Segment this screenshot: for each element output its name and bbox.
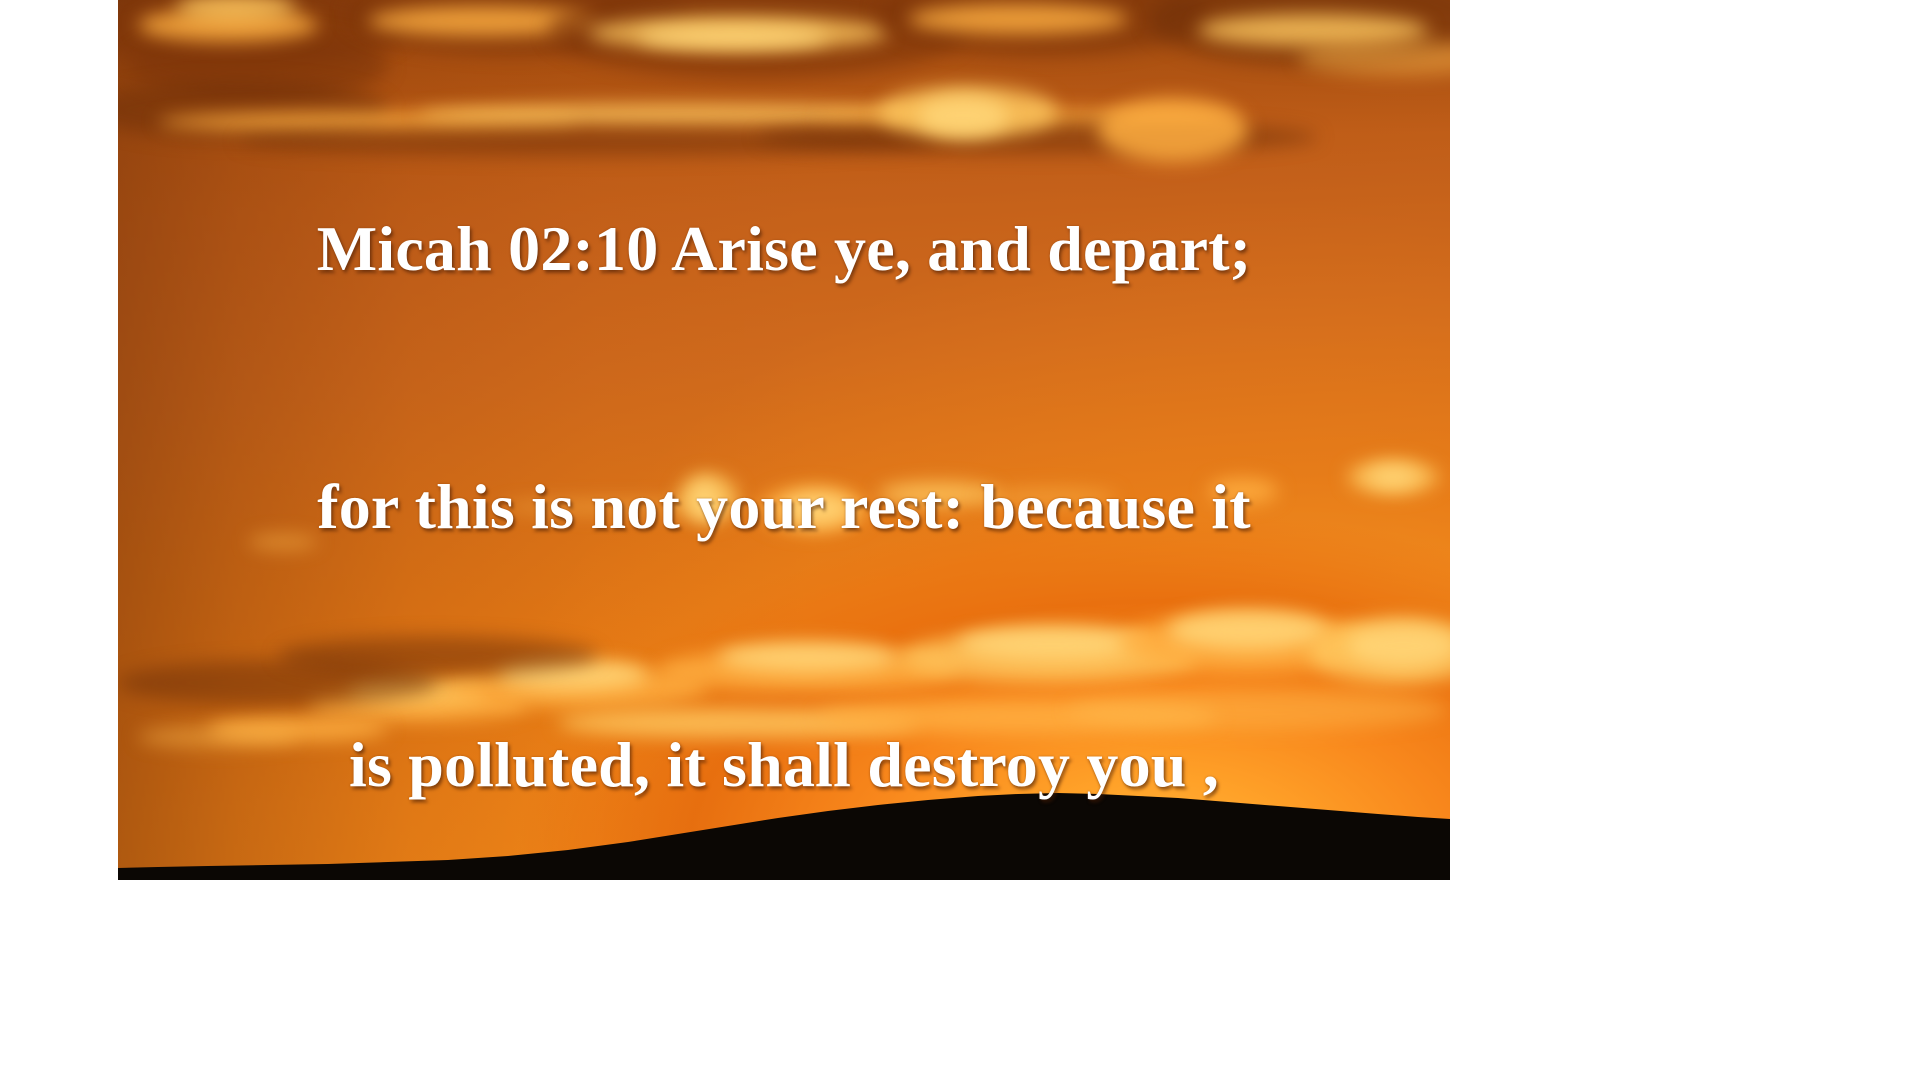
sunset-photo: Micah 02:10 Arise ye, and depart; for th… [118, 0, 1450, 880]
scripture-verse-text: Micah 02:10 Arise ye, and depart; for th… [178, 34, 1390, 880]
verse-line-1: Micah 02:10 Arise ye, and depart; [178, 206, 1390, 292]
verse-line-2: for this is not your rest: because it [178, 464, 1390, 550]
verse-line-3: is polluted, it shall destroy you , [178, 722, 1390, 808]
page-canvas: Micah 02:10 Arise ye, and depart; for th… [0, 0, 1920, 1080]
